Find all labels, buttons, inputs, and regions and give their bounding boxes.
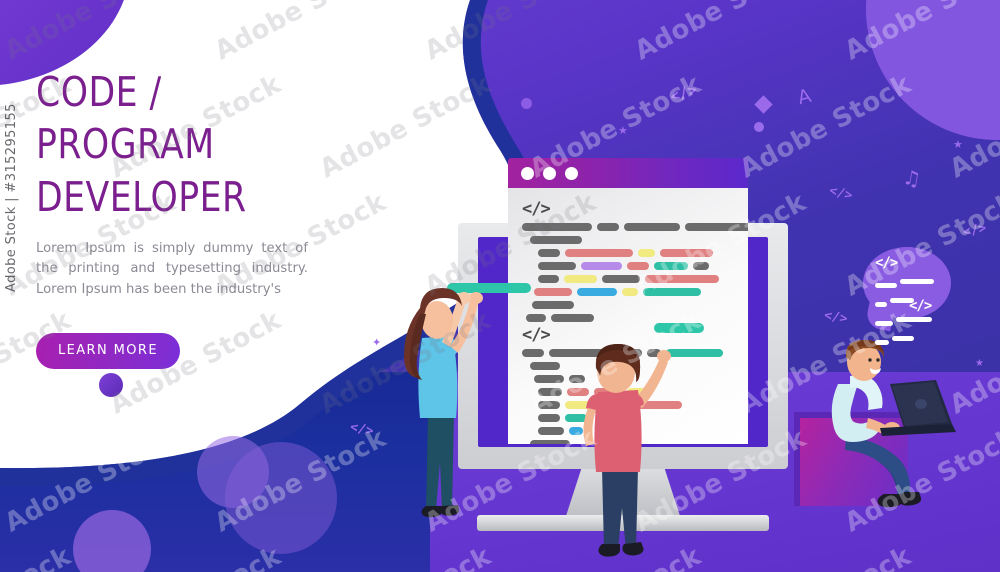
code-token-bar: [538, 427, 564, 435]
code-line: [522, 223, 738, 231]
page-title: CODE / PROGRAM DEVELOPER: [36, 66, 346, 223]
bubble-glyph-top: </>: [875, 256, 897, 270]
code-token-bar: [645, 275, 719, 283]
code-line: [522, 236, 738, 244]
headline-line-2: DEVELOPER: [36, 171, 346, 223]
code-token-bar: [530, 362, 560, 370]
learn-more-button[interactable]: LEARN MORE: [36, 333, 180, 369]
code-token-bar: [577, 288, 617, 296]
bubble-code-bar: [900, 279, 934, 284]
code-token-bar: [538, 388, 562, 396]
decorative-blob: [225, 442, 337, 554]
bubble-code-bar: [875, 302, 887, 307]
body-paragraph: Lorem Ipsum is simply dummy text of the …: [36, 239, 308, 299]
code-lines-upper: [522, 223, 738, 322]
code-speech-bubble: </> </>: [857, 247, 957, 333]
decorative-dot: [754, 122, 764, 132]
code-token-bar: [534, 288, 572, 296]
code-token-bar: [538, 275, 559, 283]
window-dot-icon[interactable]: [565, 167, 578, 180]
code-token-bar: [534, 375, 564, 383]
code-token-bar: [522, 349, 544, 357]
code-token-bar: [538, 414, 560, 422]
code-line: [522, 301, 738, 309]
teal-highlight-bar[interactable]: [654, 323, 704, 333]
bubble-code-bar: [875, 283, 897, 288]
code-token-bar: [565, 249, 633, 257]
code-token-bar: [551, 314, 594, 322]
decorative-dot: [521, 98, 532, 109]
code-token-bar: [660, 249, 713, 257]
code-token-bar: [602, 275, 640, 283]
code-line: [522, 314, 738, 322]
code-token-bar: [526, 314, 546, 322]
code-tag-icon: </>: [522, 201, 738, 218]
code-token-bar: [530, 440, 570, 444]
code-token-bar: [522, 223, 592, 231]
illustration-canvas: </></></></></>A♫★★★✦ CODE / PROGRAM DEV…: [0, 0, 1000, 572]
woman-reaching-up: [392, 276, 512, 540]
window-titlebar: [508, 158, 748, 188]
sparkle-glyph: ✦: [372, 336, 381, 349]
code-line: [522, 275, 738, 283]
star-glyph: ★: [618, 124, 628, 137]
bubble-code-bar: [896, 317, 932, 322]
code-token-bar: [638, 249, 655, 257]
headline-line-1: CODE / PROGRAM: [36, 66, 346, 171]
bubble-glyph-bottom: </>: [909, 299, 931, 313]
code-token-bar: [685, 223, 748, 231]
code-token-bar: [622, 288, 638, 296]
text-panel: CODE / PROGRAM DEVELOPER Lorem Ipsum is …: [36, 66, 366, 369]
code-token-bar: [538, 401, 560, 409]
window-dot-icon[interactable]: [521, 167, 534, 180]
code-token-bar: [654, 262, 688, 270]
man-with-laptop: [820, 340, 970, 530]
code-token-bar: [624, 223, 680, 231]
star-glyph: ★: [975, 358, 984, 369]
code-line: [522, 249, 738, 257]
star-glyph: ★: [953, 138, 963, 151]
bubble-code-bar: [875, 321, 893, 326]
code-token-bar: [564, 275, 597, 283]
bubble-code-bar: [875, 340, 889, 345]
code-token-bar: [581, 262, 622, 270]
code-line: [522, 288, 738, 296]
code-token-bar: [643, 288, 701, 296]
bubble-code-bar: [892, 336, 914, 341]
window-dot-icon[interactable]: [543, 167, 556, 180]
code-token-bar: [693, 262, 709, 270]
boy-pointing-at-screen: [572, 336, 682, 568]
code-token-bar: [627, 262, 649, 270]
decorative-ball: [99, 373, 123, 397]
code-token-bar: [538, 262, 576, 270]
code-token-bar: [538, 249, 560, 257]
code-token-bar: [530, 236, 582, 244]
stock-id-watermark: Adobe Stock | #315295155: [4, 103, 19, 292]
code-token-bar: [597, 223, 619, 231]
code-line: [522, 262, 738, 270]
code-token-bar: [532, 301, 574, 309]
